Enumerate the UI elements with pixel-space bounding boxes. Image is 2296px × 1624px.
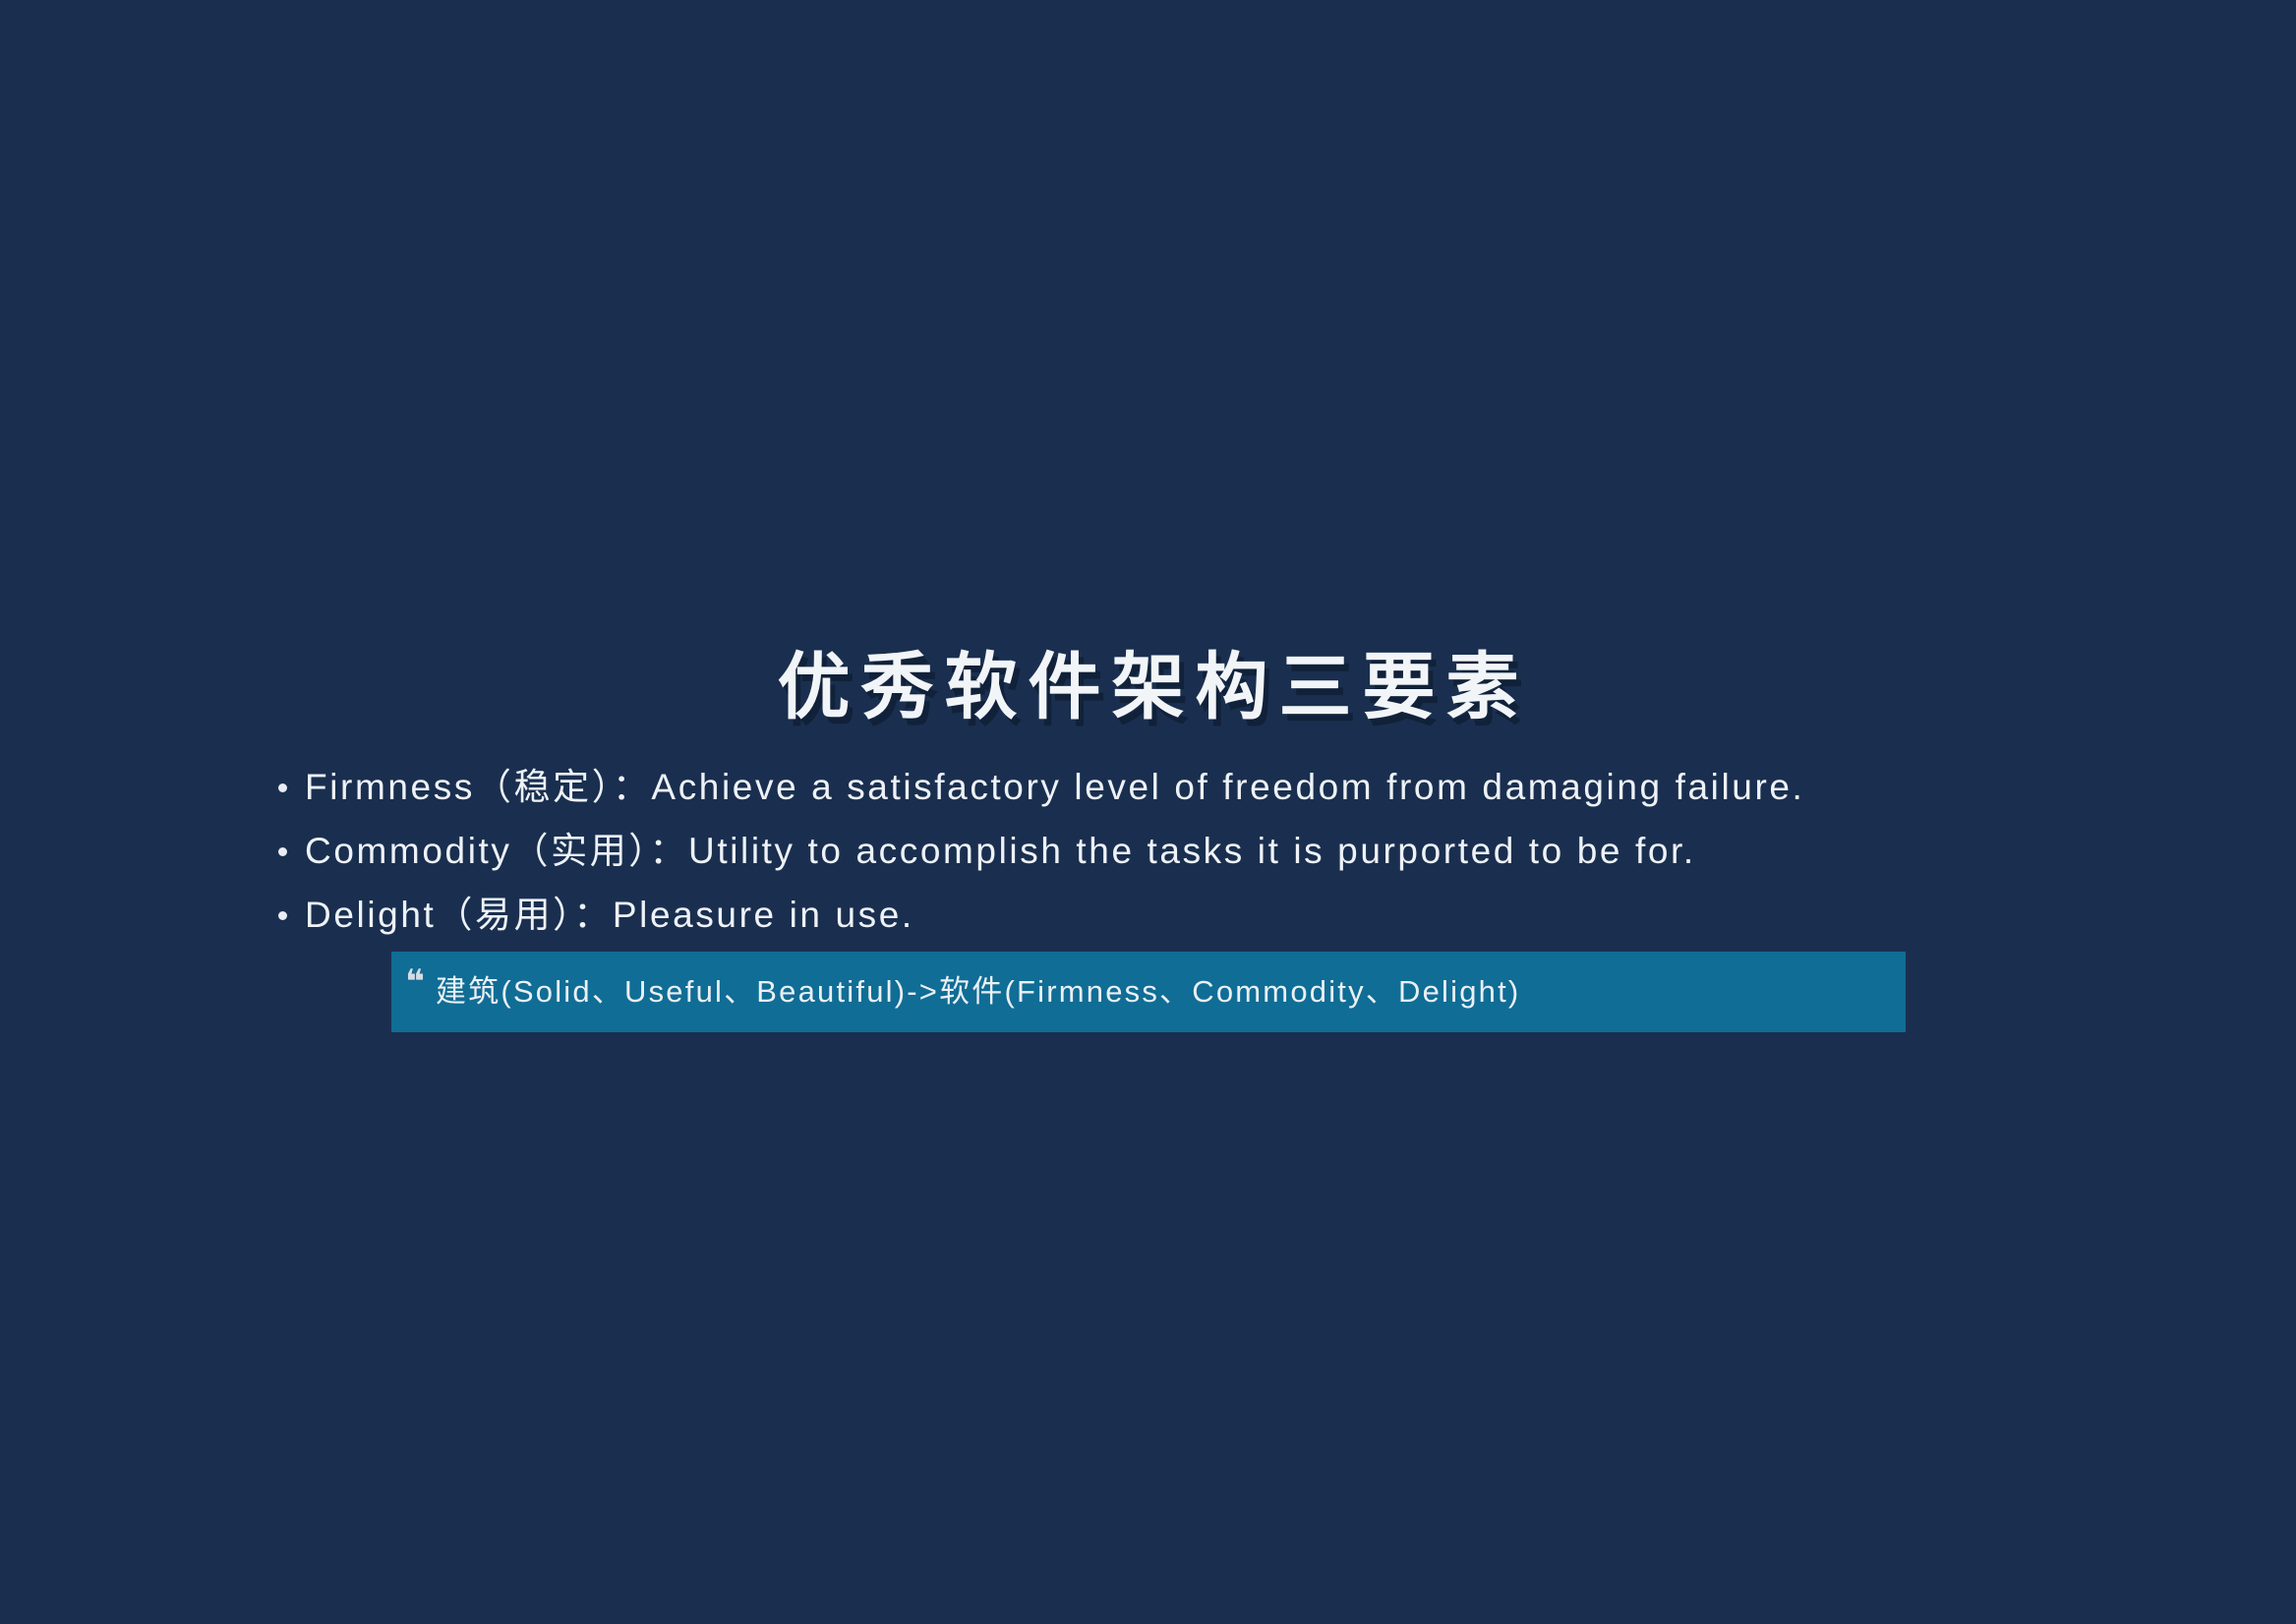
quote-text: 建筑(Solid、Useful、Beautiful)->软件(Firmness、… xyxy=(436,973,1520,1012)
page-title: 优秀软件架构三要素 xyxy=(767,647,1530,728)
list-item: Firmness（稳定）：Achieve a satisfactory leve… xyxy=(273,765,2201,809)
title-block: 优秀软件架构三要素 xyxy=(0,598,2296,777)
list-item: Delight（易用）：Pleasure in use. xyxy=(273,893,2201,937)
list-item-label: Firmness（稳定）：Achieve a satisfactory leve… xyxy=(305,767,1804,807)
quote-mark-icon: ❝ xyxy=(405,965,424,999)
slide-canvas: 优秀软件架构三要素 Firmness（稳定）：Achieve a satisfa… xyxy=(0,0,2296,1624)
quote-callout: ❝ 建筑(Solid、Useful、Beautiful)->软件(Firmnes… xyxy=(391,952,1906,1032)
bullet-dot-icon xyxy=(278,783,287,792)
bullet-list: Firmness（稳定）：Achieve a satisfactory leve… xyxy=(273,765,2201,957)
bullet-dot-icon xyxy=(278,911,287,920)
bullet-dot-icon xyxy=(278,847,287,856)
list-item-label: Delight（易用）：Pleasure in use. xyxy=(305,895,914,935)
list-item-label: Commodity（实用）：Utility to accomplish the … xyxy=(305,831,1696,871)
list-item: Commodity（实用）：Utility to accomplish the … xyxy=(273,829,2201,873)
